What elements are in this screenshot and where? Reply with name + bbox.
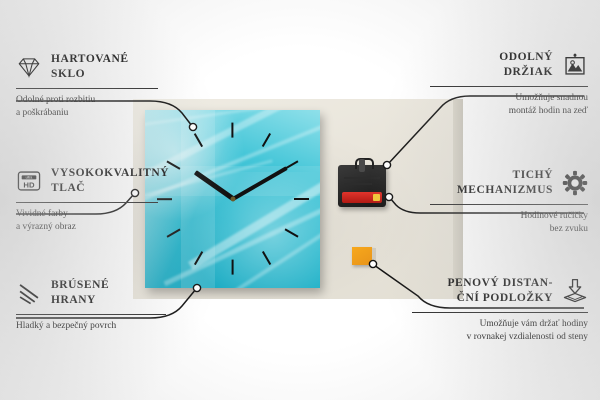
- feature-title-line2: DRŽIAK: [499, 65, 553, 80]
- feature-title: HARTOVANÉ SKLO: [51, 52, 129, 83]
- feature-tempered-glass: HARTOVANÉ SKLO Odolné proti rozbitiu a p…: [16, 52, 158, 121]
- feature-description: Umožňuje vám držať hodiny v rovnakej vzd…: [412, 318, 588, 345]
- gear-icon: [562, 170, 588, 196]
- feature-title-line2: ČNÍ PODLOŽKY: [447, 291, 553, 306]
- feature-durable-hanger: ODOLNÝ DRŽIAK Umožňuje snadnou montáž ho…: [430, 50, 588, 119]
- feature-title-line1: TICHÝ: [457, 168, 553, 183]
- feature-title-line1: VYSOKOKVALITNÝ: [51, 166, 169, 181]
- svg-text:ultra: ultra: [26, 176, 33, 180]
- feature-header: HARTOVANÉ SKLO: [16, 52, 158, 83]
- connector-dot-left-1: [189, 123, 196, 130]
- feature-title-line2: MECHANIZMUS: [457, 183, 553, 198]
- feature-title: VYSOKOKVALITNÝ TLAČ: [51, 166, 169, 197]
- feature-title: PENOVÝ DISTAN- ČNÍ PODLOŽKY: [447, 276, 553, 307]
- picture-hanger-icon: [562, 52, 588, 78]
- feature-silent-mechanism: TICHÝ MECHANIZMUS Hodinové ručičky bez z…: [430, 168, 588, 237]
- connector-dot-right-2: [385, 193, 392, 200]
- divider: [412, 312, 588, 313]
- divider: [16, 88, 158, 89]
- feature-title: TICHÝ MECHANIZMUS: [457, 168, 553, 199]
- connector-dot-left-3: [193, 284, 200, 291]
- desc-line2: v rovnakej vzdialenosti od steny: [412, 331, 588, 345]
- infographic-canvas: HARTOVANÉ SKLO Odolné proti rozbitiu a p…: [0, 0, 600, 400]
- feature-header: ultra HD VYSOKOKVALITNÝ TLAČ: [16, 166, 158, 197]
- bevelled-edges-icon: [16, 280, 42, 306]
- divider: [16, 314, 166, 315]
- feature-header: PENOVÝ DISTAN- ČNÍ PODLOŽKY: [412, 276, 588, 307]
- feature-header: ODOLNÝ DRŽIAK: [430, 50, 588, 81]
- desc-line1: Umožňuje snadnou: [430, 92, 588, 106]
- clock-center-hub: [230, 197, 235, 202]
- feature-title: ODOLNÝ DRŽIAK: [499, 50, 553, 81]
- feature-title-line1: PENOVÝ DISTAN-: [447, 276, 553, 291]
- feature-title-line2: TLAČ: [51, 181, 169, 196]
- divider: [16, 202, 158, 203]
- feature-title-line1: BRÚSENÉ: [51, 278, 109, 293]
- feature-title-line1: HARTOVANÉ: [51, 52, 129, 67]
- foam-pad-arrow-icon: [562, 278, 588, 304]
- desc-line1: Hodinové ručičky: [430, 210, 588, 224]
- feature-title-line2: SKLO: [51, 67, 129, 82]
- feature-foam-spacers: PENOVÝ DISTAN- ČNÍ PODLOŽKY Umožňuje vám…: [412, 276, 588, 345]
- feature-header: BRÚSENÉ HRANY: [16, 278, 166, 309]
- desc-line1: Odolné proti rozbitiu: [16, 94, 158, 108]
- desc-line2: a poškrábaniu: [16, 107, 158, 121]
- desc-line1: Vividné farby: [16, 208, 158, 222]
- feature-header: TICHÝ MECHANIZMUS: [430, 168, 588, 199]
- desc-line1: Hladký a bezpečný povrch: [16, 320, 166, 334]
- feature-title-line2: HRANY: [51, 293, 109, 308]
- divider: [430, 86, 588, 87]
- feature-description: Odolné proti rozbitiu a poškrábaniu: [16, 94, 158, 121]
- connector-dot-right-3: [369, 260, 376, 267]
- svg-text:HD: HD: [23, 181, 35, 190]
- diamond-icon: [16, 54, 42, 80]
- connector-dot-right-1: [383, 161, 390, 168]
- feature-hq-print: ultra HD VYSOKOKVALITNÝ TLAČ Vividné far…: [16, 166, 158, 235]
- divider: [430, 204, 588, 205]
- feature-title-line1: ODOLNÝ: [499, 50, 553, 65]
- desc-line2: a výrazný obraz: [16, 221, 158, 235]
- desc-line2: bez zvuku: [430, 223, 588, 237]
- desc-line2: montáž hodin na zeď: [430, 105, 588, 119]
- feature-title: BRÚSENÉ HRANY: [51, 278, 109, 309]
- ultra-hd-badge-icon: ultra HD: [16, 168, 42, 194]
- feature-description: Hodinové ručičky bez zvuku: [430, 210, 588, 237]
- feature-description: Vividné farby a výrazný obraz: [16, 208, 158, 235]
- feature-description: Umožňuje snadnou montáž hodin na zeď: [430, 92, 588, 119]
- feature-bevelled-edges: BRÚSENÉ HRANY Hladký a bezpečný povrch: [16, 278, 166, 333]
- desc-line1: Umožňuje vám držať hodiny: [412, 318, 588, 332]
- feature-description: Hladký a bezpečný povrch: [16, 320, 166, 334]
